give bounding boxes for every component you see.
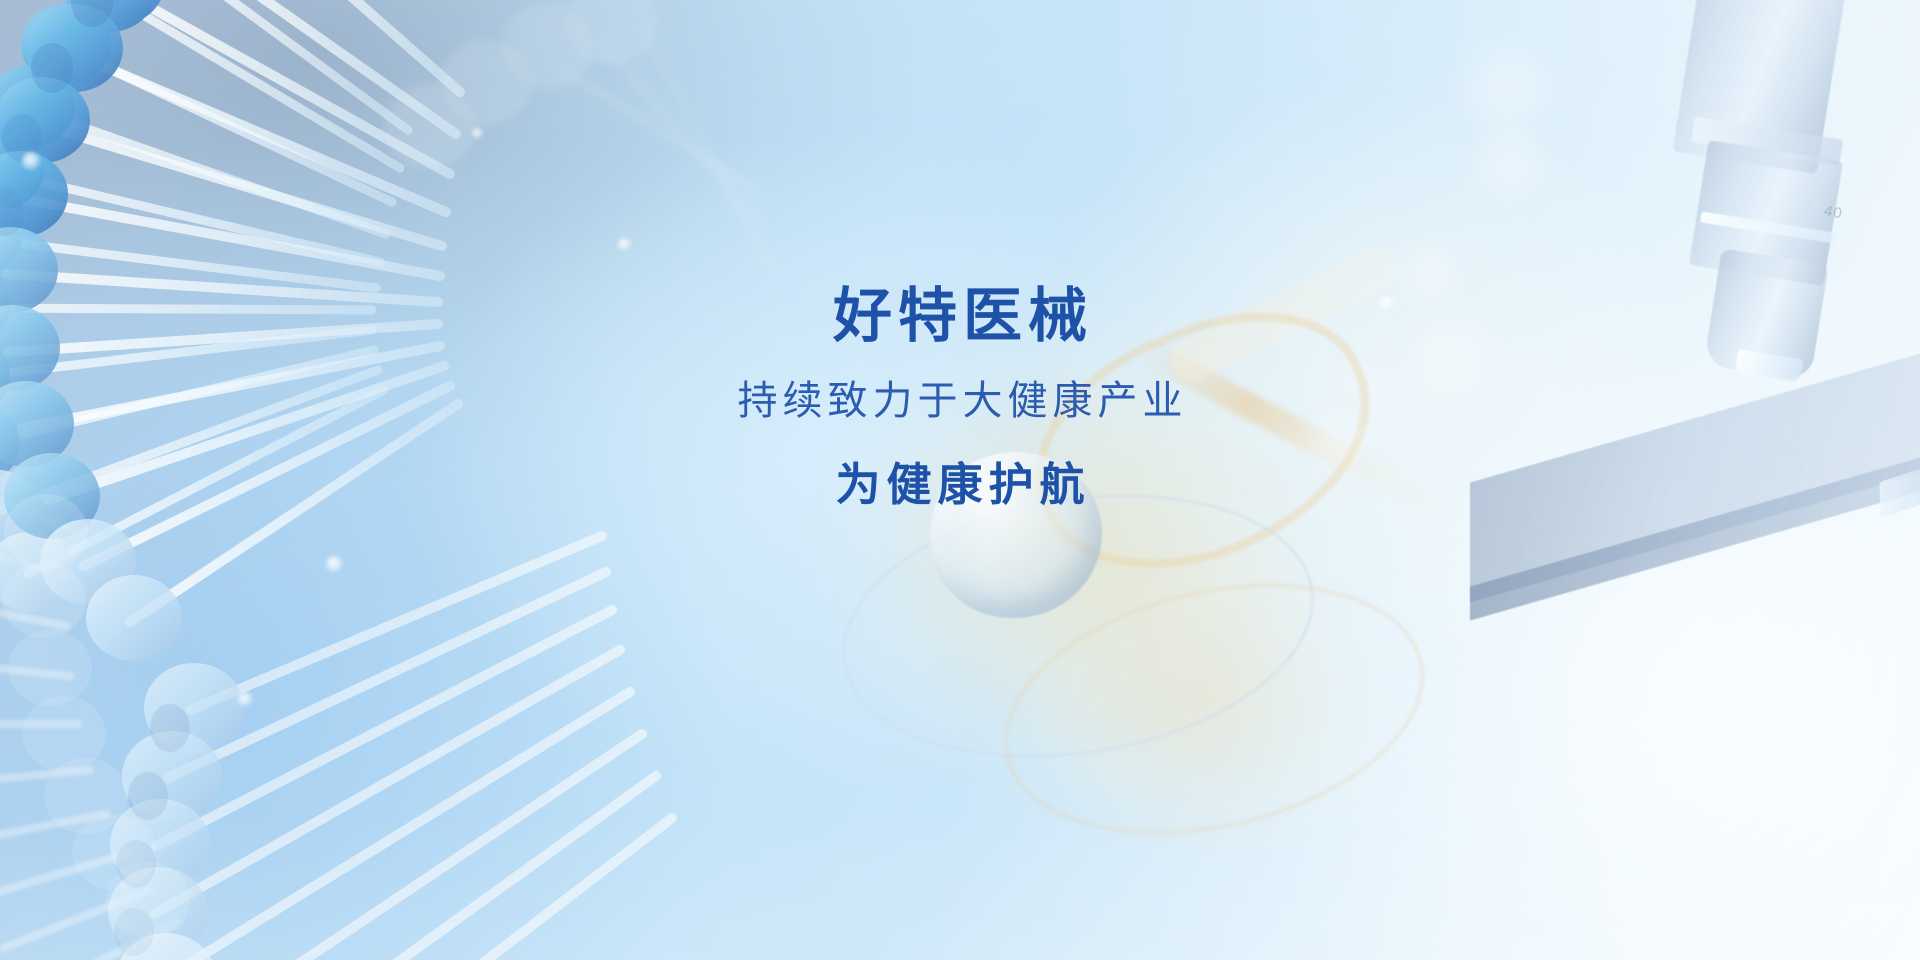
microscope-magnification-label: 40	[1823, 202, 1845, 222]
bokeh-dot	[472, 128, 483, 139]
hero-text-block: 好特医械 持续致力于大健康产业 为健康护航	[0, 282, 1920, 512]
brand-title: 好特医械	[0, 282, 1920, 352]
bokeh-dot	[22, 152, 41, 171]
bokeh-blob	[1466, 120, 1552, 206]
bokeh-dot	[326, 556, 343, 573]
bokeh-dot	[618, 238, 631, 251]
brand-tagline: 为健康护航	[0, 458, 1920, 512]
hero-banner: 40 好特医械 持续致力于大健康产业 为健康护航	[0, 0, 1920, 960]
bokeh-dot	[238, 692, 253, 707]
brand-subtitle: 持续致力于大健康产业	[0, 376, 1920, 426]
